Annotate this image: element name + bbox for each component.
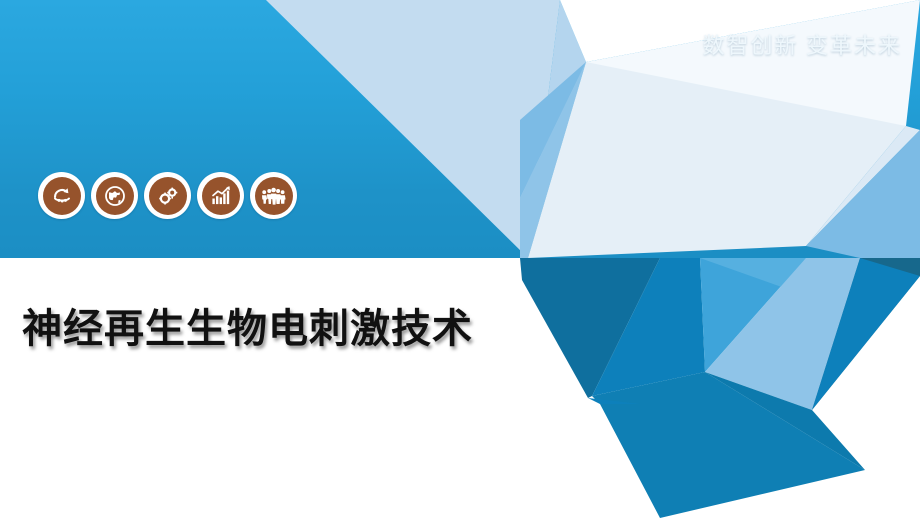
icon-badge-globe[interactable] bbox=[91, 172, 138, 219]
icon-badge-people-group[interactable] bbox=[250, 172, 297, 219]
icon-badge-bar-chart[interactable] bbox=[197, 172, 244, 219]
recycle-growth-icon bbox=[43, 177, 81, 215]
low-poly-decoration bbox=[0, 0, 920, 518]
people-group-icon bbox=[255, 177, 293, 215]
page-title: 神经再生生物电刺激技术 bbox=[22, 296, 473, 354]
icon-badge-recycle-growth[interactable] bbox=[38, 172, 85, 219]
poly-pale-wedge-top bbox=[266, 0, 560, 258]
icon-row bbox=[38, 172, 297, 219]
globe-icon bbox=[96, 177, 134, 215]
gears-icon bbox=[149, 177, 187, 215]
icon-badge-gears[interactable] bbox=[144, 172, 191, 219]
bar-chart-arrow-icon bbox=[202, 177, 240, 215]
slide-tagline: 数智创新 变革未来 bbox=[702, 28, 902, 60]
presentation-slide: 数智创新 变革未来 bbox=[0, 0, 920, 518]
